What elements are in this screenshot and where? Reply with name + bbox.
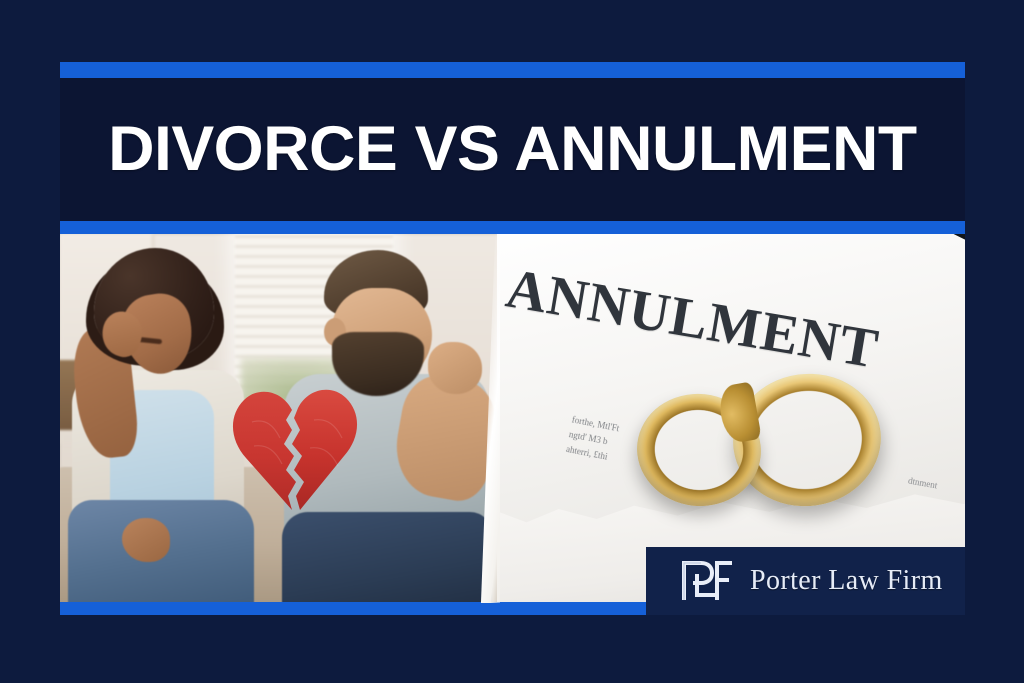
man-fist	[428, 342, 482, 394]
top-accent-bar	[60, 62, 965, 78]
promo-graphic-canvas: DIVORCE VS ANNULMENT	[0, 0, 1024, 683]
middle-accent-bar	[60, 221, 965, 234]
broken-heart-icon	[218, 374, 368, 524]
plf-monogram-icon	[678, 559, 734, 603]
bottom-accent-bar	[60, 602, 646, 615]
headline-band: DIVORCE VS ANNULMENT	[60, 78, 965, 221]
firm-name: Porter Law Firm	[750, 565, 943, 597]
brand-logo-plate[interactable]: Porter Law Firm	[646, 547, 965, 615]
woman-resting-hand	[122, 518, 170, 562]
page-title: DIVORCE VS ANNULMENT	[108, 118, 917, 181]
left-photo-divorce-couple	[60, 234, 500, 603]
man-jeans	[282, 512, 492, 603]
